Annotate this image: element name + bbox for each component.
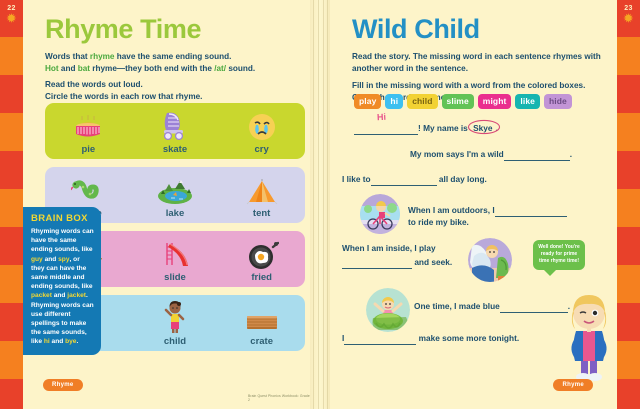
rhyme-word-label: child <box>136 336 214 347</box>
rhyme-word-label: lake <box>136 208 214 219</box>
rhyme-word-label: pie <box>49 144 127 155</box>
rhyme-row: pieskatecry <box>45 103 305 159</box>
rhyme-word-cell[interactable]: crate <box>223 299 301 347</box>
brain-box-highlight-word: packet <box>31 292 52 299</box>
playground-slide-icon <box>136 235 214 269</box>
rhyme-word-cell[interactable]: child <box>136 299 214 347</box>
left-instruction-1: Read the words out loud. <box>45 80 143 89</box>
page-number-tab-right: 23 ✹ <box>617 0 640 37</box>
rhyme-word-cell[interactable]: slide <box>136 235 214 283</box>
snake-icon <box>49 171 127 205</box>
line5-tail: and seek. <box>414 257 452 267</box>
answer-blank-2[interactable] <box>504 148 570 161</box>
story-line-5: When I am inside, I play <box>342 242 436 254</box>
left-page: Rhyme Time Words that rhyme have the sam… <box>23 0 310 409</box>
crying-face-icon <box>223 107 301 141</box>
line3-lead: I like to <box>342 174 371 184</box>
story-line-7: I make some more tonight. <box>342 332 519 345</box>
word-bank-chip-child[interactable]: child <box>407 94 437 109</box>
rhyme-word-cell[interactable]: skate <box>136 107 214 155</box>
answer-blank-6[interactable] <box>500 300 568 313</box>
line4-tail: to ride my bike. <box>408 217 469 227</box>
line1-tail: ! My name is <box>418 123 470 133</box>
line3-tail: all day long. <box>439 174 487 184</box>
wooden-crate-icon <box>223 299 301 333</box>
rhyme-word-label: cry <box>223 144 301 155</box>
speech-bubble-text: Well done! You're ready for prime time r… <box>537 244 581 265</box>
story-line-2: My mom says I'm a wild . <box>410 148 572 161</box>
story-line-6: One time, I made blue . <box>414 300 570 313</box>
intro-hot-word: Hot <box>45 64 59 73</box>
section-tab-right[interactable]: Rhyme <box>553 379 593 391</box>
word-bank-chip-might[interactable]: might <box>478 94 512 109</box>
intro-rhyme-word: rhyme <box>90 52 115 61</box>
line2-lead: My mom says I'm a wild <box>410 149 504 159</box>
story-line-1: ! My name is Skye. <box>354 122 498 135</box>
circled-word-skye[interactable]: Skye <box>470 122 495 134</box>
rhyme-word-label: slide <box>136 272 214 283</box>
word-bank-chip-like[interactable]: like <box>515 94 540 109</box>
rhyme-word-label: crate <box>223 336 301 347</box>
rhyme-word-cell[interactable]: cry <box>223 107 301 155</box>
child-playing-in-slime-icon <box>366 288 410 332</box>
roller-skate-icon <box>136 107 214 141</box>
brain-box-highlight-word: spy <box>58 256 69 263</box>
word-bank: playhichildslimemightlikehide <box>354 94 572 109</box>
intro-part: have the same ending sound. <box>114 52 231 61</box>
rhyme-word-label: skate <box>136 144 214 155</box>
brain-box-text: Rhyming words can have the same ending s… <box>31 227 95 347</box>
brain-box: BRAIN BOX Rhyming words can have the sam… <box>23 207 101 355</box>
pie-icon <box>49 107 127 141</box>
right-edge-stripes <box>617 0 640 409</box>
intro-part: and <box>59 64 78 73</box>
page-number-left: 22 <box>7 5 15 12</box>
page-number-right: 23 <box>624 5 632 12</box>
rhyme-word-cell[interactable]: lake <box>136 171 214 219</box>
page-title-left: Rhyme Time <box>45 14 310 45</box>
brain-box-text-part: and <box>50 338 65 345</box>
brain-box-text-part: and <box>43 256 58 263</box>
line2-tail: . <box>570 149 572 159</box>
brain-box-text-part: Rhyming words can have the same ending s… <box>31 228 94 253</box>
word-bank-chip-hi[interactable]: hi <box>385 94 403 109</box>
girl-on-bike-icon <box>360 194 400 234</box>
story-line-5b: and seek. <box>342 256 452 269</box>
footer-credit-left: Brain Quest Phonics Workbook: Grade 2 <box>248 394 310 402</box>
fried-egg-pan-icon <box>223 235 301 269</box>
speech-bubble: Well done! You're ready for prime time r… <box>533 240 585 270</box>
winking-blonde-kid-character <box>565 293 611 381</box>
left-intro-text: Words that rhyme have the same ending so… <box>45 51 300 102</box>
answer-blank-7[interactable] <box>344 332 416 345</box>
intro-part: Words that <box>45 52 90 61</box>
book-gutter <box>310 0 330 409</box>
child-hiding-behind-chair-icon <box>468 238 512 282</box>
brain-box-highlight-word: jacket <box>67 292 86 299</box>
intro-at-sound: /at/ <box>214 64 226 73</box>
star-icon: ✹ <box>0 14 23 24</box>
lake-icon <box>136 171 214 205</box>
rhyme-word-cell[interactable]: fried <box>223 235 301 283</box>
rhyme-word-cell[interactable]: tent <box>223 171 301 219</box>
workbook-spread: 22 ✹ 23 ✹ Rhyme Time Words that rhyme ha… <box>0 0 640 409</box>
rhyme-word-label: fried <box>223 272 301 283</box>
page-number-tab-left: 22 ✹ <box>0 0 23 37</box>
intro-bat-word: bat <box>78 64 90 73</box>
intro-part: rhyme—they both end with the <box>90 64 214 73</box>
left-edge-stripes <box>0 0 23 409</box>
brain-box-text-part: . <box>76 338 78 345</box>
story-line-4b: to ride my bike. <box>408 216 469 228</box>
child-icon <box>136 299 214 333</box>
left-instruction-2: Circle the words in each row that rhyme. <box>45 92 202 101</box>
rhyme-word-cell[interactable]: pie <box>49 107 127 155</box>
star-icon: ✹ <box>617 14 640 24</box>
word-bank-chip-slime[interactable]: slime <box>442 94 474 109</box>
tent-icon <box>223 171 301 205</box>
brain-box-highlight-word: bye <box>65 338 76 345</box>
section-tab-left[interactable]: Rhyme <box>43 379 83 391</box>
answer-blank-5[interactable] <box>342 256 412 269</box>
word-bank-chip-hide[interactable]: hide <box>544 94 572 109</box>
brain-box-text-part: and <box>52 292 67 299</box>
right-page: Wild Child Read the story. The missing w… <box>330 0 617 409</box>
handwritten-answer-1: Hi <box>377 112 387 122</box>
brain-box-highlight-word: guy <box>31 256 43 263</box>
word-bank-chip-play[interactable]: play <box>354 94 381 109</box>
line4-lead: When I am outdoors, I <box>408 205 495 215</box>
brain-box-title: BRAIN BOX <box>31 213 95 224</box>
story-line-3: I like to all day long. <box>342 173 487 186</box>
line5-lead: When I am inside, I play <box>342 243 436 253</box>
answer-blank-3[interactable] <box>371 173 437 186</box>
line6-lead: One time, I made blue <box>414 301 500 311</box>
rhyme-word-label: tent <box>223 208 301 219</box>
page-title-right: Wild Child <box>352 14 617 45</box>
intro-part: sound. <box>226 64 255 73</box>
answer-blank-1[interactable] <box>354 122 418 135</box>
line7-tail: make some more tonight. <box>419 333 520 343</box>
right-instruction-1: Read the story. The missing word in each… <box>352 51 607 74</box>
answer-blank-4[interactable] <box>495 204 567 217</box>
